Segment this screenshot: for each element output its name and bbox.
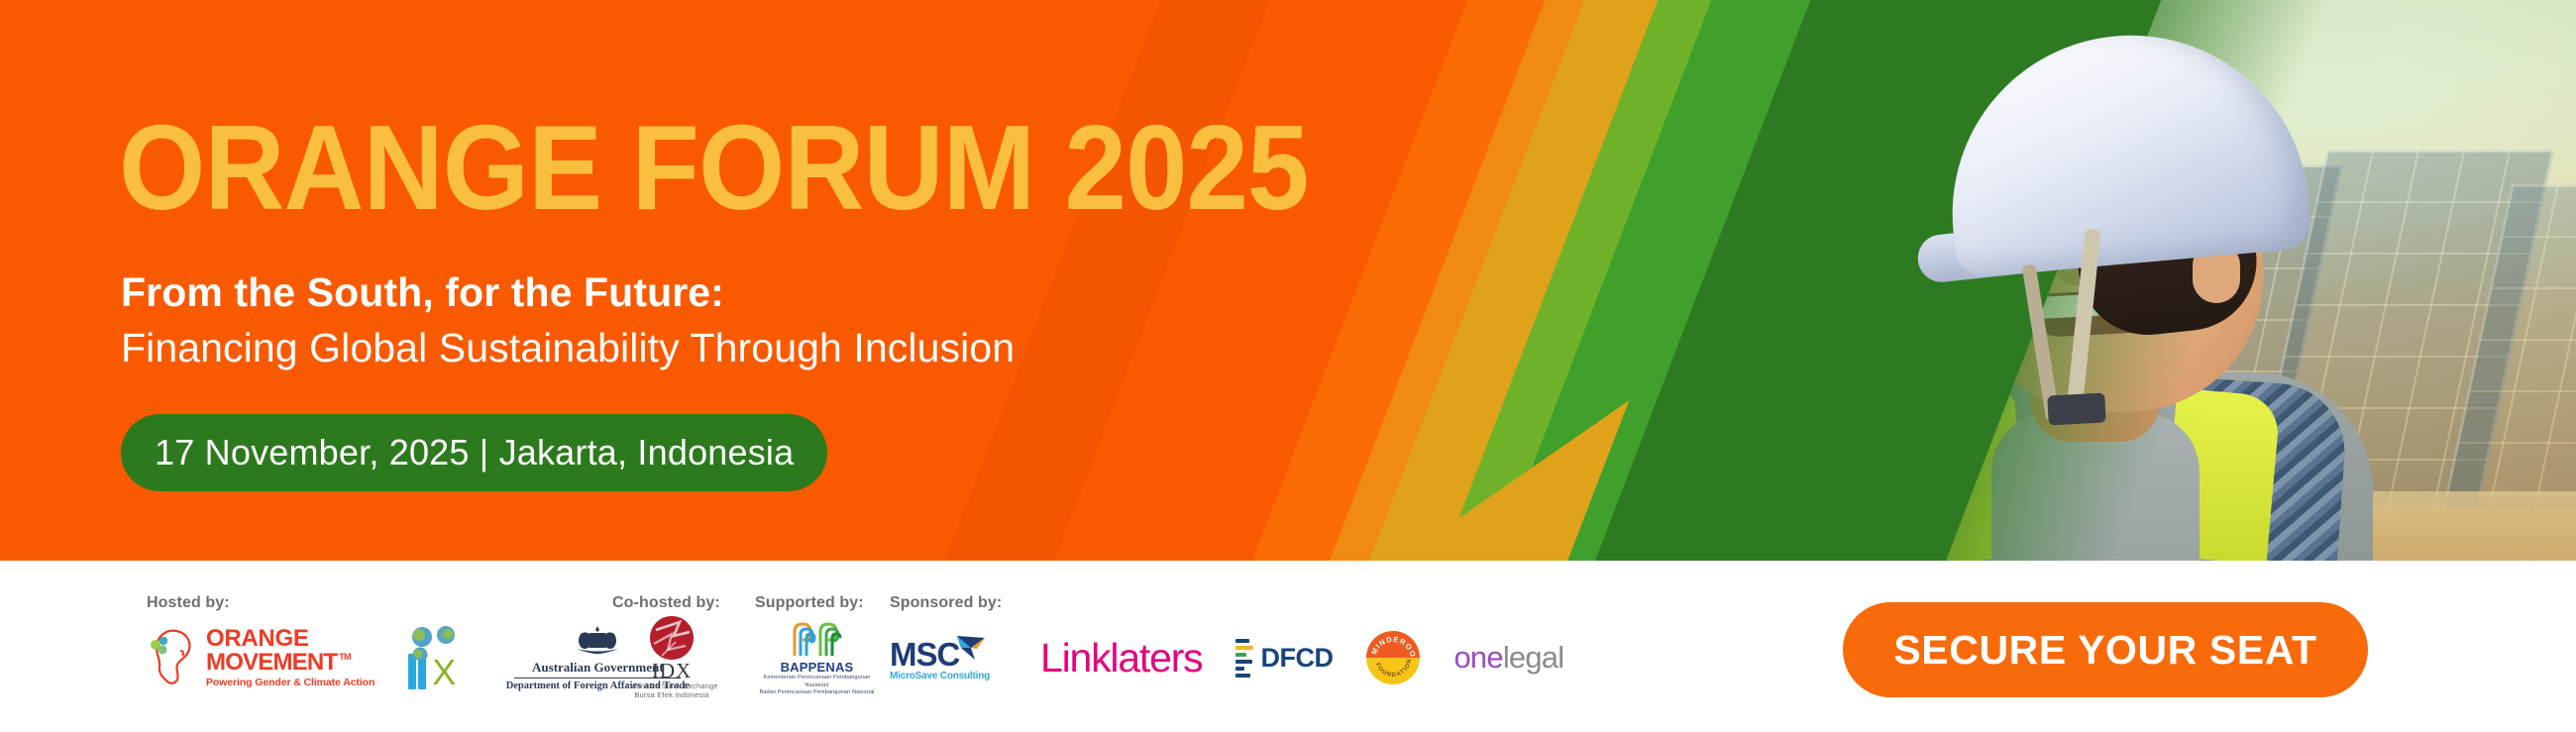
woman-engineer-figure <box>1778 46 2413 561</box>
idx-wordmark: IDX <box>652 660 692 681</box>
onelegal-logo[interactable]: onelegal <box>1453 640 1563 676</box>
cohosted-logo-row: IDX Indonesia Stock Exchange Bursa Efek … <box>612 622 731 693</box>
date-location-badge: 17 November, 2025 | Jakarta, Indonesia <box>121 414 827 491</box>
date-location-label: 17 November, 2025 | Jakarta, Indonesia <box>155 432 794 473</box>
minderoo-circular-text: MINDEROO FOUNDATION <box>1366 631 1420 684</box>
sponsored-logo-row: MSC MicroSave Consulting Linklaters <box>890 622 1563 693</box>
iix-logo[interactable]: X <box>408 626 480 689</box>
svg-text:FOUNDATION: FOUNDATION <box>1374 658 1413 679</box>
cta-label: SECURE YOUR SEAT <box>1893 627 2316 674</box>
logo-group-sponsored: Sponsored by: MSC MicroSave Cons <box>890 594 1563 693</box>
dfcd-bars-icon <box>1235 639 1255 678</box>
hosted-logo-row: ORANGE MOVEMENT TM Powering Gender & Cli… <box>147 622 682 693</box>
iix-dots-icon <box>408 626 480 660</box>
trademark-symbol: TM <box>339 653 350 662</box>
minderoo-foundation-logo[interactable]: MINDEROO FOUNDATION <box>1366 631 1420 684</box>
linklaters-logo[interactable]: Linklaters <box>1040 638 1202 679</box>
msc-tagline: MicroSave Consulting <box>890 671 990 681</box>
om-line2: MOVEMENT <box>206 651 337 674</box>
subtitle-regular: Financing Global Sustainability Through … <box>121 325 1015 371</box>
orange-forum-2025-banner: ORANGE FORUM 2025 From the South, for th… <box>0 0 2576 732</box>
idx-sub1: Indonesia Stock Exchange <box>625 681 718 690</box>
logo-group-cohosted: Co-hosted by: IDX Indonesia Stock Exchan… <box>612 594 731 693</box>
supported-logo-row: BAPPENAS Kementerian Perencanaan Pembang… <box>755 622 879 693</box>
om-line1: ORANGE <box>206 627 375 650</box>
idx-sub2: Bursa Efek Indonesia <box>634 690 708 699</box>
iix-letter-x: X <box>432 656 456 689</box>
dfcd-wordmark: DFCD <box>1260 643 1333 674</box>
bappenas-sub1: Kementerian Perencanaan Pembangunan Nasi… <box>755 675 879 689</box>
page-title: ORANGE FORUM 2025 <box>119 107 1309 228</box>
sponsored-by-label: Sponsored by: <box>890 594 1563 612</box>
bappenas-curve-icon <box>787 618 848 658</box>
om-tagline: Powering Gender & Climate Action <box>206 677 375 688</box>
bappenas-sub2: Badan Perencanaan Pembangunan Nasional <box>759 689 874 697</box>
om-line2-wrap: MOVEMENT TM <box>206 651 375 674</box>
hero-section: ORANGE FORUM 2025 From the South, for th… <box>0 0 2576 561</box>
supported-by-label: Supported by: <box>755 594 879 612</box>
logo-group-hosted: Hosted by: ORANGE <box>147 594 682 693</box>
idx-sphere-icon <box>650 616 694 660</box>
secure-your-seat-button[interactable]: SECURE YOUR SEAT <box>1843 602 2368 697</box>
onelegal-legal: legal <box>1503 640 1564 675</box>
orange-movement-logo[interactable]: ORANGE MOVEMENT TM Powering Gender & Cli… <box>147 627 375 688</box>
orange-movement-wordmark: ORANGE MOVEMENT TM Powering Gender & Cli… <box>206 627 375 687</box>
logo-group-supported: Supported by: BAPPENAS Kem <box>755 594 879 693</box>
msc-arrow-icon <box>955 634 989 662</box>
dfcd-logo[interactable]: DFCD <box>1235 639 1333 678</box>
hero-photo-solar-engineer <box>1526 0 2576 561</box>
onelegal-one: one <box>1453 640 1502 675</box>
hero-text-block: ORANGE FORUM 2025 From the South, for th… <box>119 0 1506 561</box>
svg-text:MINDEROO: MINDEROO <box>1369 635 1418 659</box>
strap-buckle <box>2047 393 2105 426</box>
cohosted-by-label: Co-hosted by: <box>612 594 731 612</box>
hosted-by-label: Hosted by: <box>147 594 682 612</box>
bappenas-logo[interactable]: BAPPENAS Kementerian Perencanaan Pembang… <box>755 618 879 697</box>
woman-silhouette-icon <box>147 627 198 688</box>
msc-logo[interactable]: MSC MicroSave Consulting <box>890 634 1007 681</box>
hard-hat-icon <box>1938 21 2313 279</box>
subtitle-bold: From the South, for the Future: <box>121 269 724 316</box>
idx-logo[interactable]: IDX Indonesia Stock Exchange Bursa Efek … <box>612 616 731 700</box>
msc-wordmark: MSC <box>890 640 959 670</box>
bappenas-wordmark: BAPPENAS <box>781 660 854 675</box>
msc-top-row: MSC <box>890 634 989 670</box>
